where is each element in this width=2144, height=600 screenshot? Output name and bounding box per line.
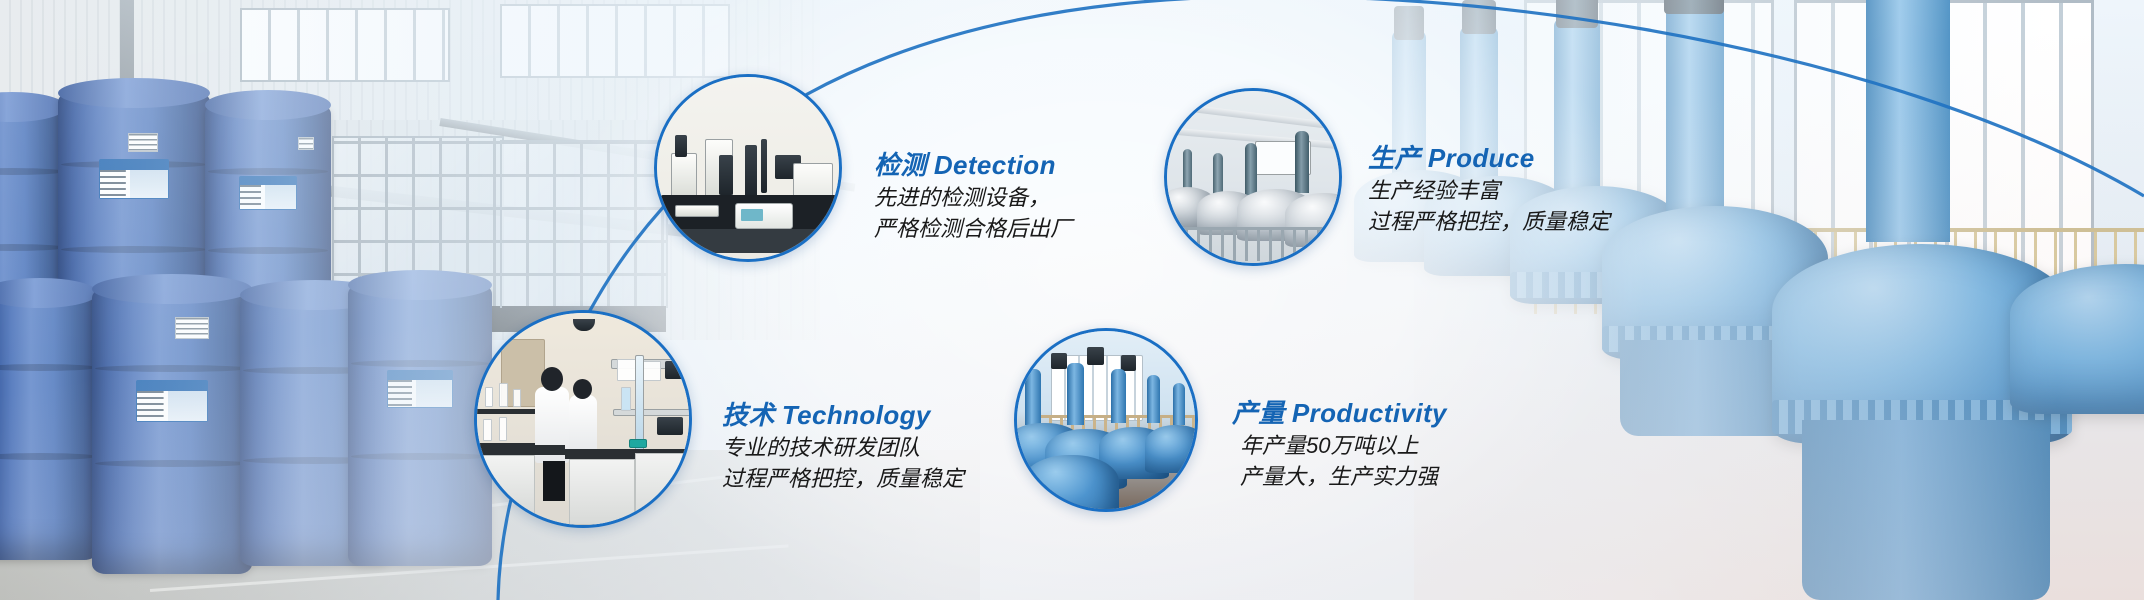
bench-worktop-left — [477, 445, 565, 455]
technician-1-legs — [543, 461, 565, 501]
vertical-post — [635, 355, 644, 451]
feature-photo-productivity — [1014, 328, 1198, 512]
technician-2-coat — [569, 395, 597, 455]
feature-title-detection: 检测Detection — [874, 150, 1072, 182]
prod-motor-3 — [1121, 355, 1136, 371]
lab-equipment-dark — [665, 361, 687, 379]
feature-title-produce: 生产Produce — [1368, 143, 1610, 175]
company-strength-banner: 检测Detection 先进的检测设备， 严格检测合格后出厂 生产Produce… — [0, 0, 2144, 600]
lab-equipment-dark-2 — [657, 417, 683, 435]
lab-glassware-1 — [617, 359, 637, 381]
background-photo-composite — [0, 0, 2144, 600]
lab-instrument-dark-1 — [675, 135, 687, 157]
feature-title-cn: 技术 — [722, 400, 775, 430]
productivity-reactor-scene — [1017, 331, 1195, 509]
feature-text-produce: 生产Produce 生产经验丰富 过程严格把控，质量稳定 — [1368, 143, 1610, 237]
technician-2-head — [573, 379, 592, 399]
feature-text-technology: 技术Technology 专业的技术研发团队 过程严格把控，质量稳定 — [722, 400, 964, 494]
lab-bottle-3 — [513, 389, 521, 407]
lab-instrument-1 — [671, 153, 697, 199]
lab-bottle-blue — [621, 387, 631, 411]
feature-text-productivity: 产量Productivity 年产量50万吨以上 产量大，生产实力强 — [1232, 398, 1447, 492]
feature-line: 年产量50万吨以上 — [1232, 430, 1447, 461]
produce-shaft-2 — [1213, 153, 1223, 195]
blue-reactor-4 — [1145, 425, 1198, 473]
feature-title-cn: 生产 — [1368, 143, 1421, 173]
feature-title-technology: 技术Technology — [722, 400, 964, 432]
feature-photo-detection — [654, 74, 842, 262]
feature-photo-technology — [474, 310, 692, 528]
feature-line: 严格检测合格后出厂 — [874, 213, 1072, 244]
feature-title-cn: 检测 — [874, 150, 927, 180]
photo-warm-wash — [0, 0, 2144, 600]
lab-glassware-2 — [643, 361, 661, 381]
prod-motor-2 — [1087, 347, 1104, 365]
microscope-2 — [745, 145, 757, 197]
produce-shaft-4 — [1295, 131, 1309, 193]
lab-bottle-2 — [499, 383, 508, 407]
prod-shaft-5 — [1173, 383, 1185, 425]
digital-scale — [735, 203, 793, 229]
green-box — [629, 439, 647, 448]
feature-title-en: Detection — [934, 150, 1056, 180]
lab-bottle-5 — [499, 417, 507, 441]
feature-title-en: Technology — [782, 400, 931, 430]
technology-lab-scene — [477, 313, 689, 525]
prod-shaft-1 — [1025, 369, 1041, 425]
feature-line: 生产经验丰富 — [1368, 175, 1610, 206]
feature-line: 专业的技术研发团队 — [722, 432, 964, 463]
bench-cabinet-left — [477, 455, 535, 515]
bench-cabinet-right — [569, 459, 635, 525]
feature-title-en: Produce — [1428, 143, 1535, 173]
blue-reactor-front — [1023, 455, 1119, 512]
lab-stand — [761, 139, 767, 193]
produce-hall-scene — [1167, 91, 1339, 263]
prod-shaft-3 — [1111, 369, 1126, 423]
lab-bottle-4 — [483, 419, 492, 441]
lab-bottle-1 — [485, 387, 493, 407]
feature-title-productivity: 产量Productivity — [1232, 398, 1447, 430]
prod-shaft-2 — [1067, 363, 1084, 425]
hall-roof-beam-1 — [1164, 101, 1342, 132]
feature-title-cn: 产量 — [1232, 398, 1285, 428]
feature-title-en: Productivity — [1292, 398, 1447, 428]
prod-motor-1 — [1051, 353, 1067, 369]
scale-display — [741, 209, 763, 221]
feature-photo-produce — [1164, 88, 1342, 266]
feature-line: 过程严格把控，质量稳定 — [722, 463, 964, 494]
bench-cabinet-far — [635, 453, 692, 523]
feature-text-detection: 检测Detection 先进的检测设备， 严格检测合格后出厂 — [874, 150, 1072, 244]
prod-shaft-4 — [1147, 375, 1160, 423]
feature-line: 先进的检测设备， — [874, 182, 1072, 213]
detection-lab-scene — [657, 77, 839, 259]
microscope-1 — [719, 155, 733, 195]
technician-1-head — [541, 367, 563, 391]
produce-railing — [1164, 227, 1342, 261]
ceiling-lamp — [573, 319, 595, 331]
feature-line: 产量大，生产实力强 — [1232, 461, 1447, 492]
bench-tray — [675, 205, 719, 217]
feature-line: 过程严格把控，质量稳定 — [1368, 206, 1610, 237]
lab-bench-base — [667, 229, 837, 253]
produce-shaft-3 — [1245, 143, 1257, 195]
